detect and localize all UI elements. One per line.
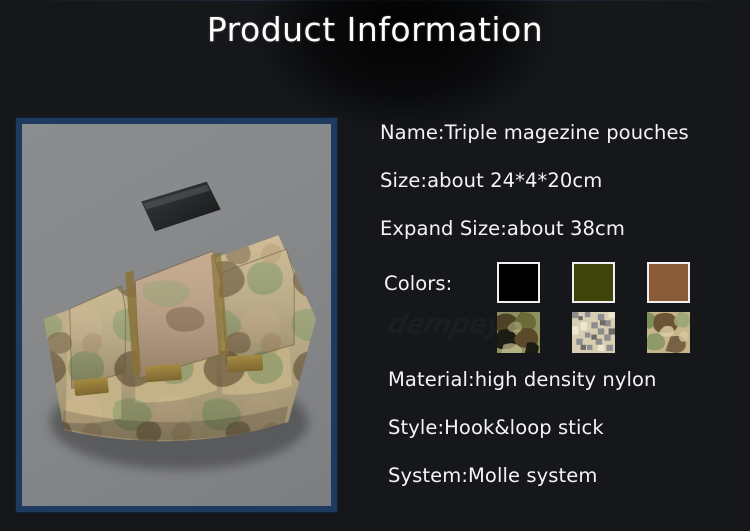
spec-material: Material:high density nylon bbox=[388, 368, 657, 391]
color-swatch-acu-digital-camo[interactable] bbox=[572, 312, 615, 353]
color-swatch-olive-green[interactable] bbox=[572, 262, 615, 303]
product-photo bbox=[22, 124, 331, 506]
spec-name: Name:Triple magezine pouches bbox=[380, 121, 689, 144]
multicam-pattern-icon bbox=[647, 312, 690, 353]
color-swatch-woodland-camo[interactable] bbox=[497, 312, 540, 353]
top-hairline-divider bbox=[0, 0, 750, 1]
spec-system: System:Molle system bbox=[388, 464, 597, 487]
page-title: Product Information bbox=[0, 10, 750, 49]
acu-digital-camo-pattern-icon bbox=[572, 312, 615, 353]
product-spec-list: dempeys Name:Triple magezine pouches Siz… bbox=[378, 117, 738, 517]
spec-colors-label: Colors: bbox=[384, 272, 452, 295]
product-information-page: Product Information bbox=[0, 0, 750, 531]
spec-expand-size: Expand Size:about 38cm bbox=[380, 217, 625, 240]
color-swatch-multicam[interactable] bbox=[647, 312, 690, 353]
product-image-frame bbox=[15, 117, 338, 513]
spec-style: Style:Hook&loop stick bbox=[388, 416, 604, 439]
color-swatch-row-1 bbox=[497, 262, 717, 304]
color-swatch-black[interactable] bbox=[497, 262, 540, 303]
woodland-camo-pattern-icon bbox=[497, 312, 540, 353]
color-swatch-brown[interactable] bbox=[647, 262, 690, 303]
triple-magazine-pouch-illustration bbox=[22, 124, 331, 506]
spec-size: Size:about 24*4*20cm bbox=[380, 169, 602, 192]
color-swatch-row-2 bbox=[497, 312, 717, 354]
